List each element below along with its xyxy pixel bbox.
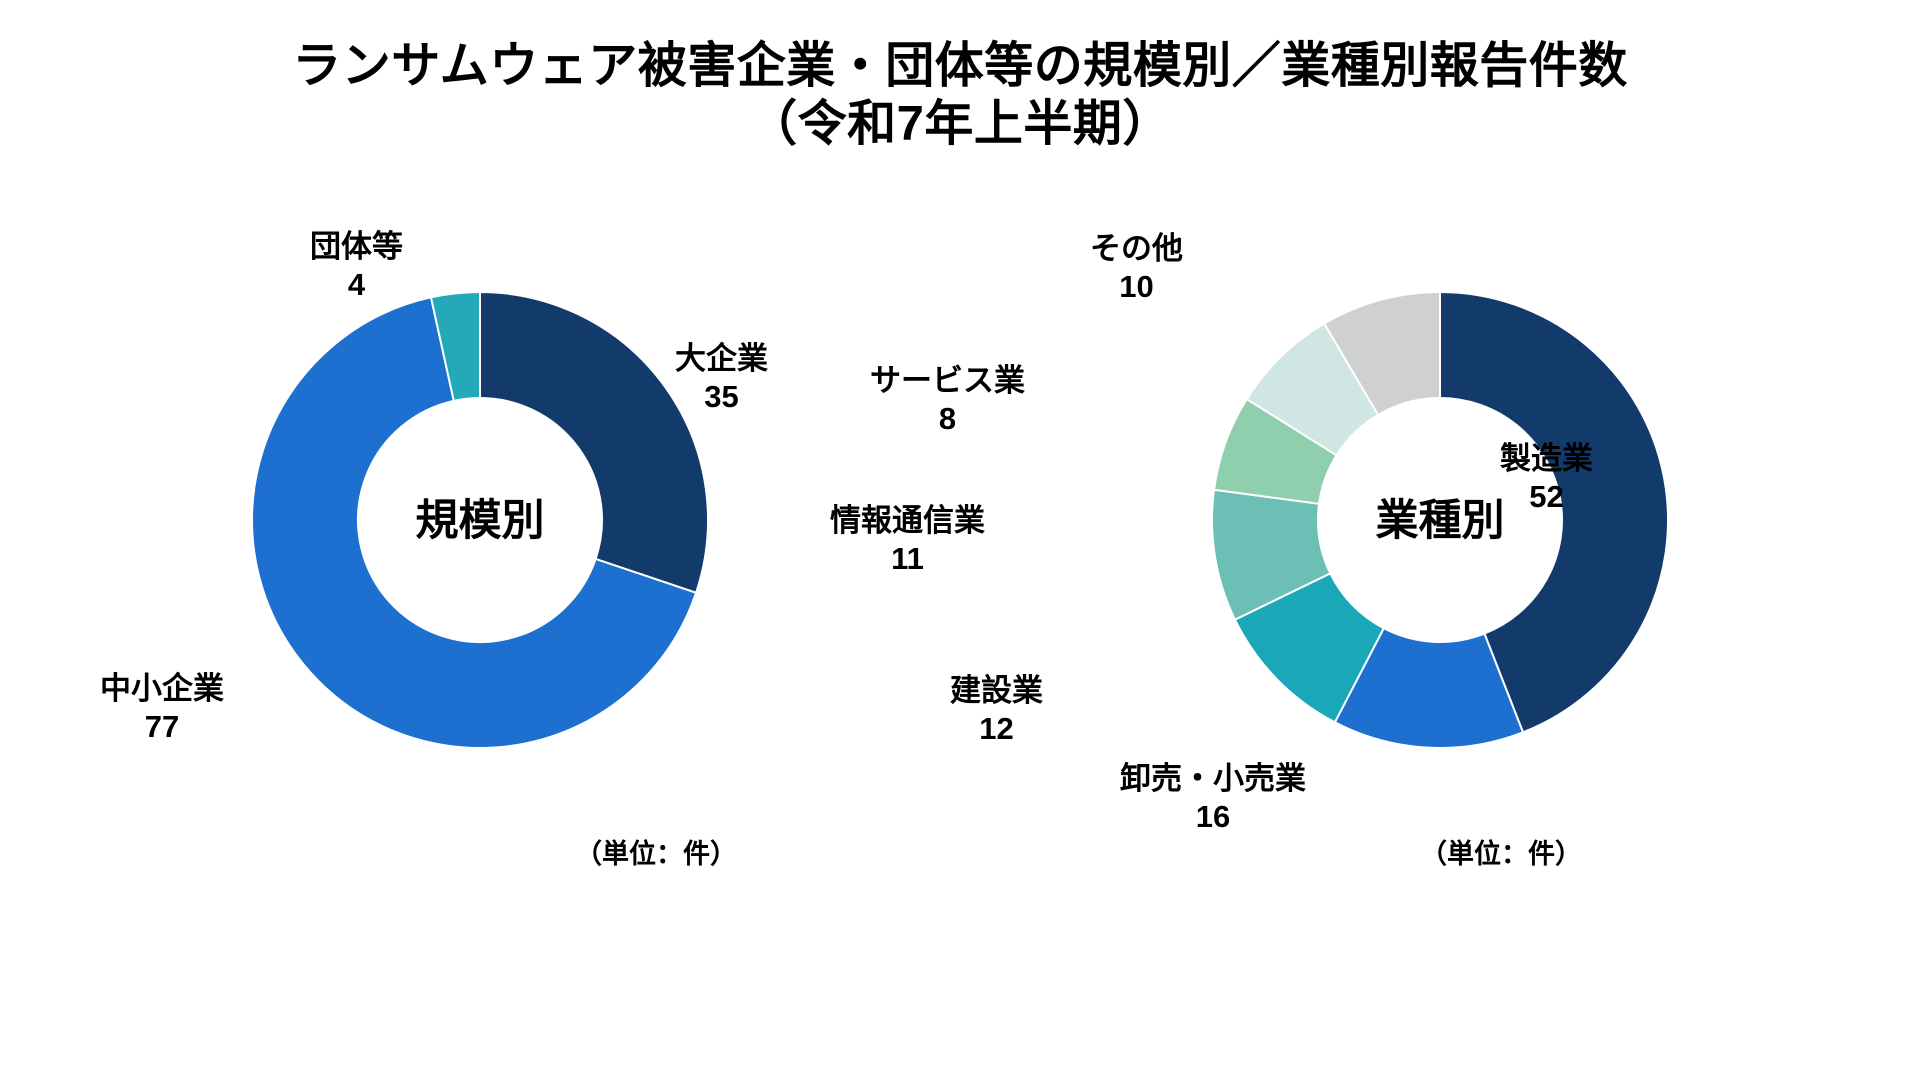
unit-note-industry: （単位：件） xyxy=(1420,832,1582,871)
slice-label-service: サービス業 8 xyxy=(870,362,1025,438)
donut-chart-size: 規模別 xyxy=(250,290,710,750)
donut-size-slice-0 xyxy=(480,292,708,593)
slice-label-value: 35 xyxy=(675,378,768,416)
slice-label-name: 中小企業 xyxy=(100,670,224,708)
slice-label-name: その他 xyxy=(1090,230,1183,268)
slice-label-value: 8 xyxy=(870,400,1025,438)
title-line-1: ランサムウェア被害企業・団体等の規模別／業種別報告件数 xyxy=(0,38,1920,96)
slice-label-daikigyou: 大企業 35 xyxy=(675,340,768,416)
slice-label-dantai: 団体等 4 xyxy=(310,228,403,304)
slice-label-name: サービス業 xyxy=(870,362,1025,400)
chart-page: ランサムウェア被害企業・団体等の規模別／業種別報告件数 （令和7年上半期） 規模… xyxy=(0,0,1920,1080)
slice-label-jouhoutsuushin: 情報通信業 11 xyxy=(830,502,985,578)
slice-label-value: 52 xyxy=(1500,478,1593,516)
unit-note-size: （単位：件） xyxy=(575,832,737,871)
slice-label-kensetsu: 建設業 12 xyxy=(950,672,1043,748)
slice-label-value: 77 xyxy=(100,708,224,746)
slice-label-oroshiuri: 卸売・小売業 16 xyxy=(1120,760,1306,836)
chart-panel-industry: 業種別 製造業 52 卸売・小売業 16 建設業 12 情報通信業 11 サービ… xyxy=(960,190,1920,1080)
chart-panel-size: 規模別 大企業 35 中小企業 77 団体等 4 xyxy=(0,190,960,1080)
title-line-2: （令和7年上半期） xyxy=(0,96,1920,154)
slice-label-seizougyou: 製造業 52 xyxy=(1500,440,1593,516)
donut-svg-industry xyxy=(1210,290,1670,750)
slice-label-value: 4 xyxy=(310,266,403,304)
page-title: ランサムウェア被害企業・団体等の規模別／業種別報告件数 （令和7年上半期） xyxy=(0,38,1920,154)
slice-label-value: 10 xyxy=(1090,268,1183,306)
slice-label-name: 製造業 xyxy=(1500,440,1593,478)
slice-label-name: 卸売・小売業 xyxy=(1120,760,1306,798)
slice-label-value: 11 xyxy=(830,540,985,578)
slice-label-name: 情報通信業 xyxy=(830,502,985,540)
slice-label-sonota: その他 10 xyxy=(1090,230,1183,306)
donut-svg-size xyxy=(250,290,710,750)
slice-label-name: 建設業 xyxy=(950,672,1043,710)
slice-label-name: 団体等 xyxy=(310,228,403,266)
slice-label-chusho: 中小企業 77 xyxy=(100,670,224,746)
donut-chart-industry: 業種別 xyxy=(1210,290,1670,750)
slice-label-value: 16 xyxy=(1120,798,1306,836)
slice-label-value: 12 xyxy=(950,710,1043,748)
slice-label-name: 大企業 xyxy=(675,340,768,378)
